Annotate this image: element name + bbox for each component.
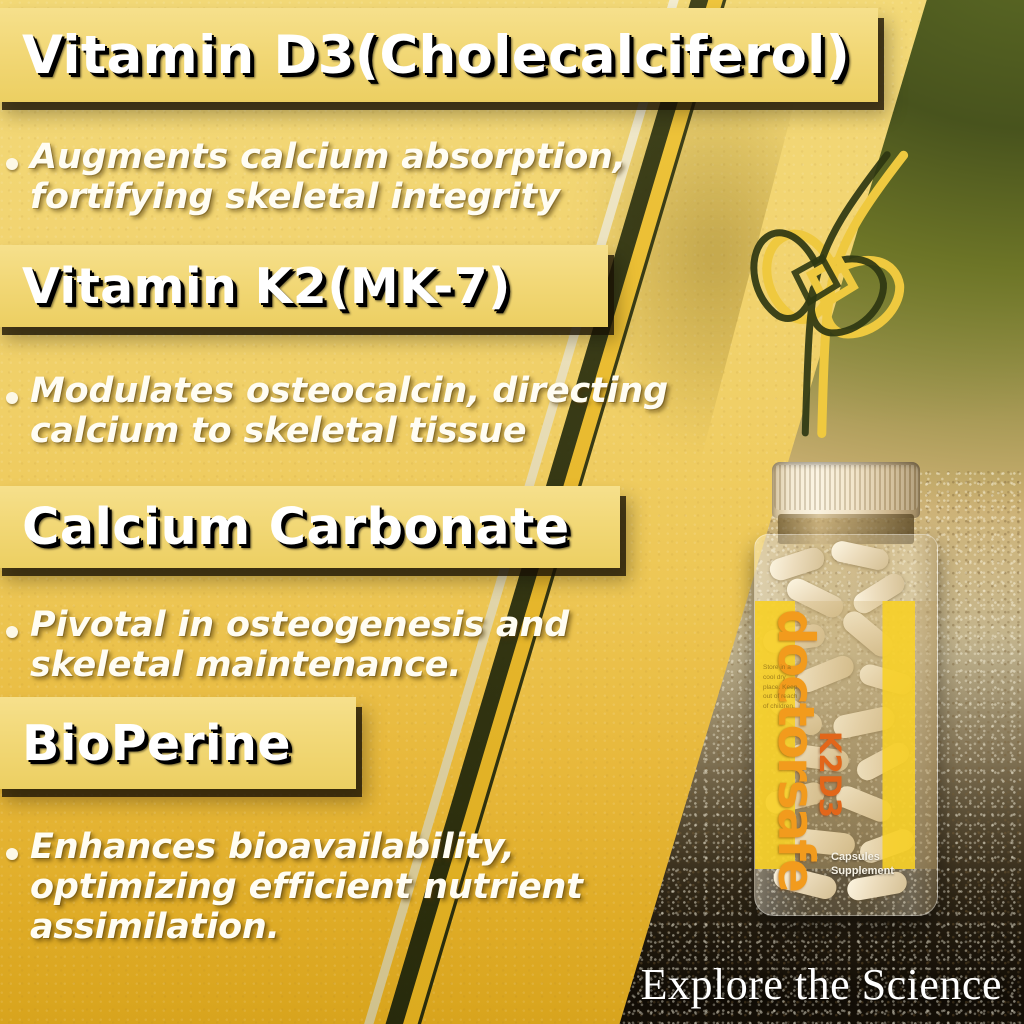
heading-vitamin-d3: Vitamin D3(Cholecalciferol) [22,25,850,86]
bottle-body: doctorsafe K2D3 Capsules Supplement Stor… [754,534,938,916]
heading-vitamin-k2: Vitamin K2(MK-7) [22,258,511,315]
heading-plate-bioperine: BioPerine [0,697,356,789]
heading-calcium-carbonate: Calcium Carbonate [22,498,570,557]
bullet-item-vitamin-d3: Augments calcium absorption, fortifying … [6,138,726,218]
bullet-dot-icon [6,626,18,638]
bottle-label-fine-print: Store in a cool dry place. Keep out of r… [763,663,803,712]
heading-plate-calcium-carbonate: Calcium Carbonate [0,486,620,568]
heading-bioperine: BioPerine [22,715,291,772]
heading-plate-vitamin-k2: Vitamin K2(MK-7) [0,245,608,327]
bullet-dot-icon [6,392,18,404]
bullet-dot-icon [6,158,18,170]
bullet-item-vitamin-k2: Modulates osteocalcin, directing calcium… [6,372,766,452]
bullet-text-calcium-carbonate: Pivotal in osteogenesis and skeletal mai… [30,606,666,686]
bullet-text-vitamin-d3: Augments calcium absorption, fortifying … [30,138,726,218]
bullet-item-bioperine: Enhances bioavailability, optimizing eff… [6,828,626,948]
bottle-cap-ridges [774,465,918,510]
bottle-formula-name: K2D3 [813,731,847,818]
heading-plate-vitamin-d3: Vitamin D3(Cholecalciferol) [0,8,878,102]
bullet-dot-icon [6,848,18,860]
footer-tagline: Explore the Science [641,959,1002,1010]
bullet-text-vitamin-k2: Modulates osteocalcin, directing calcium… [30,372,766,452]
bottle-cap [772,462,920,518]
bottle-label-subtext: Capsules Supplement [831,851,894,879]
supplement-infographic-poster: Vitamin D3(Cholecalciferol) Augments cal… [0,0,1024,1024]
product-bottle: doctorsafe K2D3 Capsules Supplement Stor… [748,462,944,928]
bullet-text-bioperine: Enhances bioavailability, optimizing eff… [30,828,626,948]
bullet-item-calcium-carbonate: Pivotal in osteogenesis and skeletal mai… [6,606,666,686]
